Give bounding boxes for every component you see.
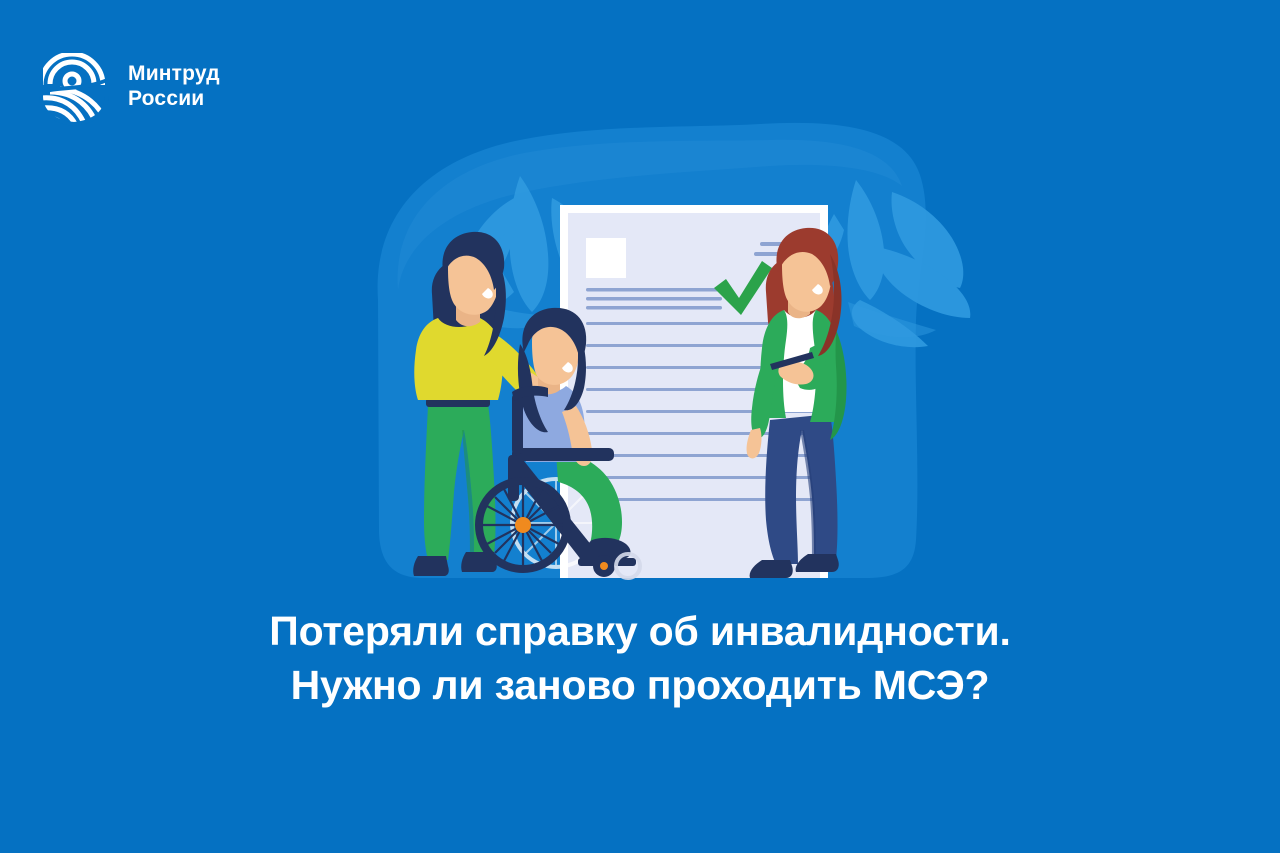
- brand-name: Минтруд России: [128, 38, 220, 135]
- armrest: [512, 448, 614, 461]
- mintrud-shield-icon: [38, 48, 110, 126]
- headline: Потеряли справку об инвалидности. Нужно …: [0, 604, 1280, 712]
- brand-logo: Минтруд России: [38, 38, 220, 135]
- headline-line-2: Нужно ли заново проходить МСЭ?: [0, 658, 1280, 712]
- wheel-hub: [515, 517, 531, 533]
- shoe-left: [413, 556, 449, 576]
- brand-name-line1: Минтруд: [128, 62, 220, 85]
- poster-canvas: Минтруд России Потеряли справку об инвал…: [0, 0, 1280, 853]
- headline-line-1: Потеряли справку об инвалидности.: [0, 604, 1280, 658]
- caster-hub: [600, 562, 608, 570]
- document-photo-placeholder: [586, 238, 626, 278]
- seat-back-post: [512, 394, 523, 454]
- brand-name-line2: России: [128, 87, 220, 111]
